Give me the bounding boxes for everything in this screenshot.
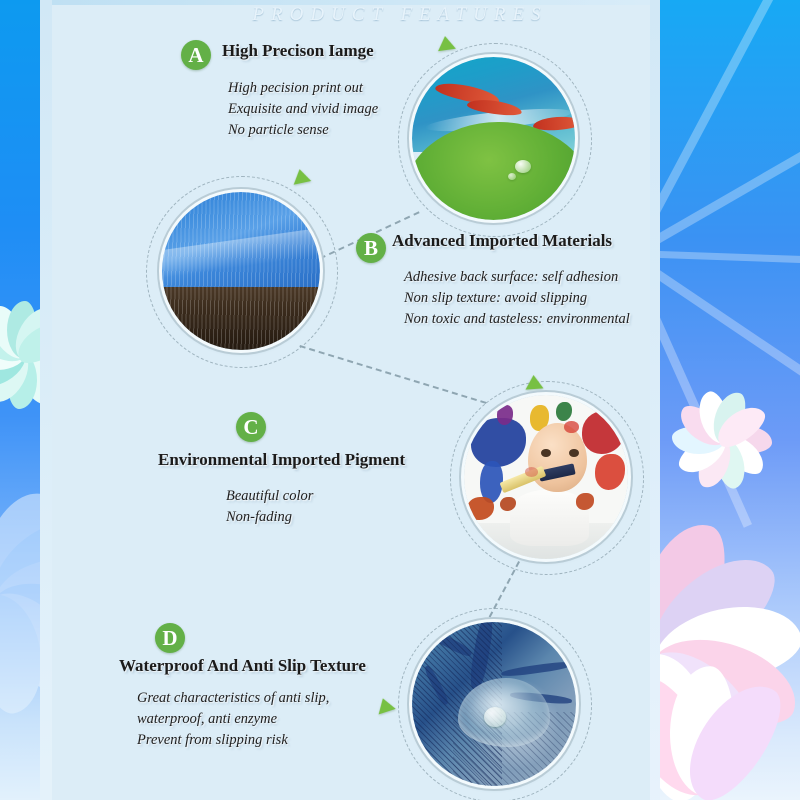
feature-heading-a: High Precison Iamge bbox=[222, 41, 374, 61]
left-inner-gap bbox=[40, 0, 52, 800]
feature-badge-c: C bbox=[236, 412, 266, 442]
triangle-arrow-icon-d bbox=[374, 696, 395, 715]
feature-line: Beautiful color bbox=[226, 486, 313, 507]
feature-line: waterproof, anti enzyme bbox=[137, 709, 329, 730]
feature-heading-b: Advanced Imported Materials bbox=[392, 231, 612, 251]
feature-line: Non-fading bbox=[226, 507, 313, 528]
feature-badge-b: B bbox=[356, 233, 386, 263]
feature-badge-d: D bbox=[155, 623, 185, 653]
left-decorative-band bbox=[0, 0, 40, 800]
feature-lines-b: Adhesive back surface: self adhesion Non… bbox=[404, 267, 630, 330]
feature-line: No particle sense bbox=[228, 120, 378, 141]
right-inner-gap bbox=[650, 0, 660, 800]
feature-line: Great characteristics of anti slip, bbox=[137, 688, 329, 709]
water-droplet-texture-photo bbox=[412, 622, 576, 786]
page-title: PRODUCT FEATURES bbox=[0, 4, 800, 26]
connector-b-to-c bbox=[299, 345, 486, 404]
feature-lines-d: Great characteristics of anti slip, wate… bbox=[137, 688, 329, 751]
blue-textured-fabric-photo bbox=[162, 192, 320, 350]
koi-pond-lotus-leaf-photo bbox=[412, 57, 575, 220]
feature-line: Prevent from slipping risk bbox=[137, 730, 329, 751]
feature-line: Adhesive back surface: self adhesion bbox=[404, 267, 630, 288]
triangle-arrow-icon-c bbox=[525, 374, 544, 389]
feature-line: High pecision print out bbox=[228, 78, 378, 99]
feature-line: Non toxic and tasteless: environmental bbox=[404, 309, 630, 330]
feature-line: Non slip texture: avoid slipping bbox=[404, 288, 630, 309]
feature-lines-a: High pecision print out Exquisite and vi… bbox=[228, 78, 378, 141]
baby-painting-photo bbox=[464, 395, 628, 559]
triangle-arrow-icon-b bbox=[291, 167, 312, 184]
triangle-arrow-icon-a bbox=[436, 35, 456, 51]
feature-heading-d: Waterproof And Anti Slip Texture bbox=[119, 656, 366, 676]
feature-badge-a: A bbox=[181, 40, 211, 70]
right-decorative-band bbox=[660, 0, 800, 800]
feature-line: Exquisite and vivid image bbox=[228, 99, 378, 120]
feature-lines-c: Beautiful color Non-fading bbox=[226, 486, 313, 528]
product-features-poster: PRODUCT FEATURES A High Precison Iamge H… bbox=[0, 0, 800, 800]
feature-heading-c: Environmental Imported Pigment bbox=[158, 450, 405, 470]
